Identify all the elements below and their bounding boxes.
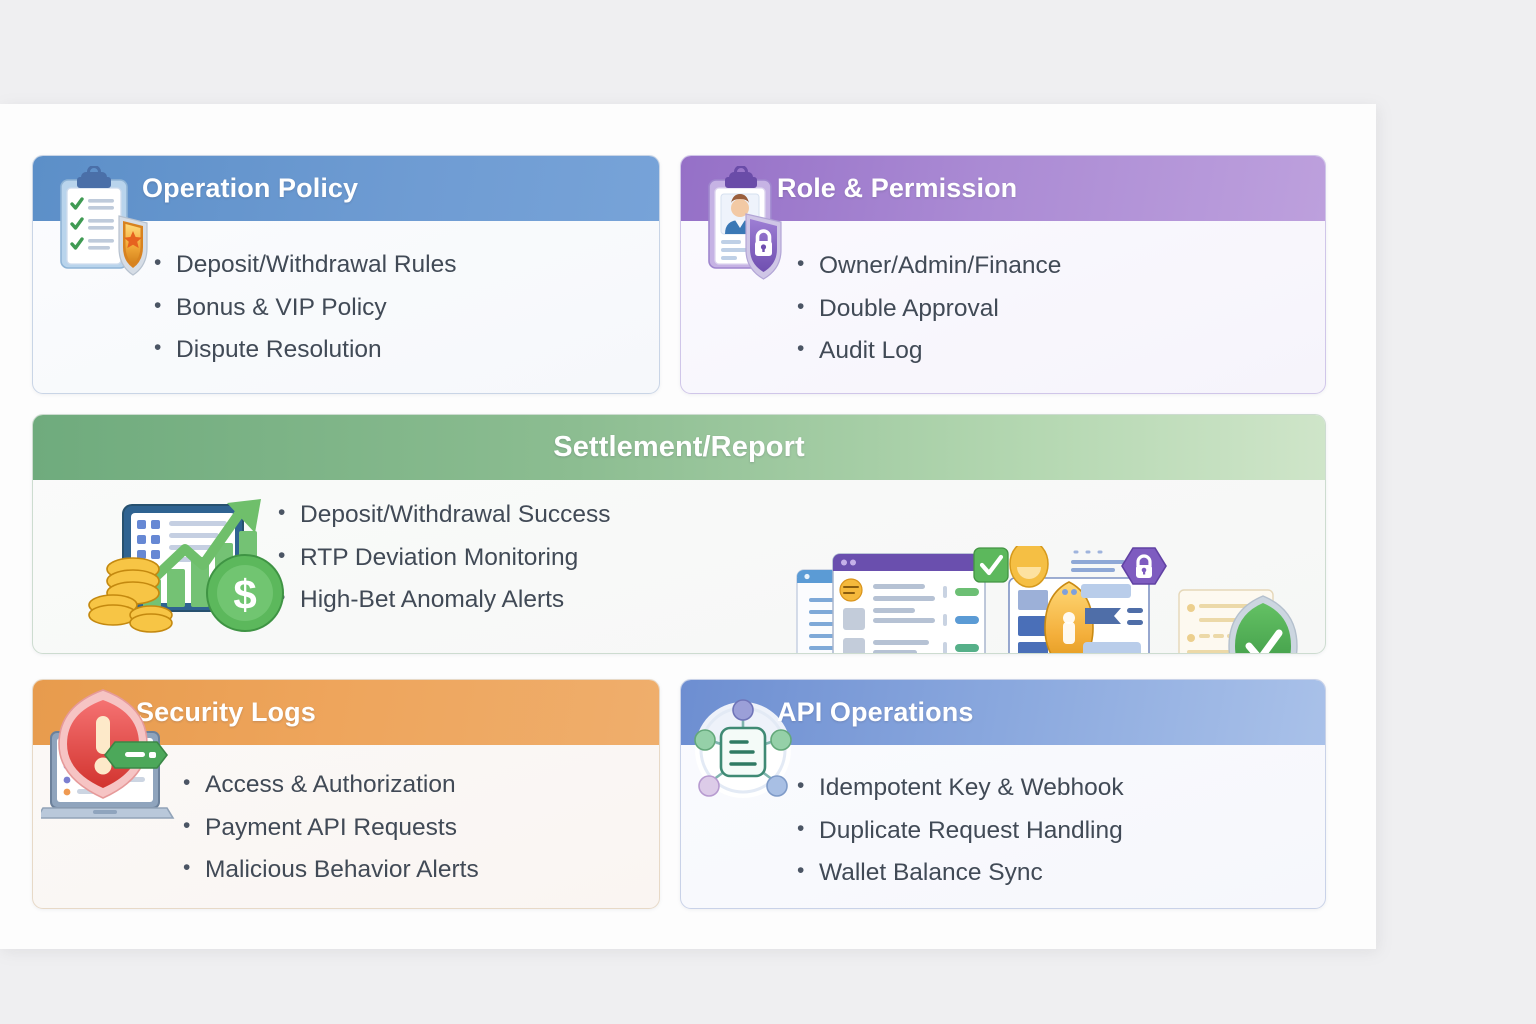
- card-body-operation-policy: Deposit/Withdrawal Rules Bonus & VIP Pol…: [33, 221, 659, 393]
- card-operation-policy[interactable]: Operation Policy Deposit/Withdrawal Rule…: [32, 155, 660, 394]
- card-title-operation-policy: Operation Policy: [142, 173, 358, 204]
- card-body-security-logs: Access & Authorization Payment API Reque…: [33, 745, 659, 908]
- list-item: Owner/Admin/Finance: [797, 254, 1061, 279]
- list-item: Deposit/Withdrawal Rules: [154, 253, 457, 278]
- bullet-list-operation-policy: Deposit/Withdrawal Rules Bonus & VIP Pol…: [154, 253, 457, 381]
- card-role-permission[interactable]: Role & Permission Owner/Admin/Finance Do…: [680, 155, 1326, 394]
- card-header-api-operations: API Operations: [681, 680, 1325, 745]
- card-title-api-operations: API Operations: [777, 697, 973, 728]
- list-item: High-Bet Anomaly Alerts: [278, 588, 610, 613]
- report-dashboards-security-illustration: [793, 546, 1313, 654]
- list-item: Payment API Requests: [183, 816, 479, 841]
- list-item: Malicious Behavior Alerts: [183, 858, 479, 883]
- list-item: Access & Authorization: [183, 773, 479, 798]
- card-header-security-logs: Security Logs: [33, 680, 659, 745]
- card-header-role-permission: Role & Permission: [681, 156, 1325, 221]
- list-item: Wallet Balance Sync: [797, 861, 1124, 886]
- list-item: Double Approval: [797, 297, 1061, 322]
- list-item: Duplicate Request Handling: [797, 819, 1124, 844]
- card-header-operation-policy: Operation Policy: [33, 156, 659, 221]
- card-title-role-permission: Role & Permission: [777, 173, 1017, 204]
- card-grid: Operation Policy Deposit/Withdrawal Rule…: [32, 155, 1326, 909]
- card-header-settlement-report: Settlement/Report: [33, 415, 1325, 480]
- card-security-logs[interactable]: Security Logs Access & Authorization Pay…: [32, 679, 660, 909]
- card-title-security-logs: Security Logs: [136, 697, 316, 728]
- list-item: Idempotent Key & Webhook: [797, 776, 1124, 801]
- list-item: Deposit/Withdrawal Success: [278, 503, 610, 528]
- list-item: Dispute Resolution: [154, 338, 457, 363]
- card-api-operations[interactable]: API Operations Idempotent Key & Webhook …: [680, 679, 1326, 909]
- bullet-list-api-operations: Idempotent Key & Webhook Duplicate Reque…: [797, 776, 1124, 904]
- bullet-list-settlement-report: Deposit/Withdrawal Success RTP Deviation…: [278, 503, 610, 631]
- card-body-role-permission: Owner/Admin/Finance Double Approval Audi…: [681, 221, 1325, 393]
- card-body-settlement-report: Deposit/Withdrawal Success RTP Deviation…: [33, 480, 1325, 653]
- card-settlement-report[interactable]: Settlement/Report Deposit/Withdrawal Suc…: [32, 414, 1326, 654]
- bullet-list-security-logs: Access & Authorization Payment API Reque…: [183, 773, 479, 901]
- bullet-list-role-permission: Owner/Admin/Finance Double Approval Audi…: [797, 254, 1061, 382]
- list-item: RTP Deviation Monitoring: [278, 546, 610, 571]
- list-item: Bonus & VIP Policy: [154, 296, 457, 321]
- card-title-settlement-report: Settlement/Report: [553, 431, 804, 464]
- page-sheet: Operation Policy Deposit/Withdrawal Rule…: [0, 104, 1376, 949]
- list-item: Audit Log: [797, 339, 1061, 364]
- card-body-api-operations: Idempotent Key & Webhook Duplicate Reque…: [681, 745, 1325, 908]
